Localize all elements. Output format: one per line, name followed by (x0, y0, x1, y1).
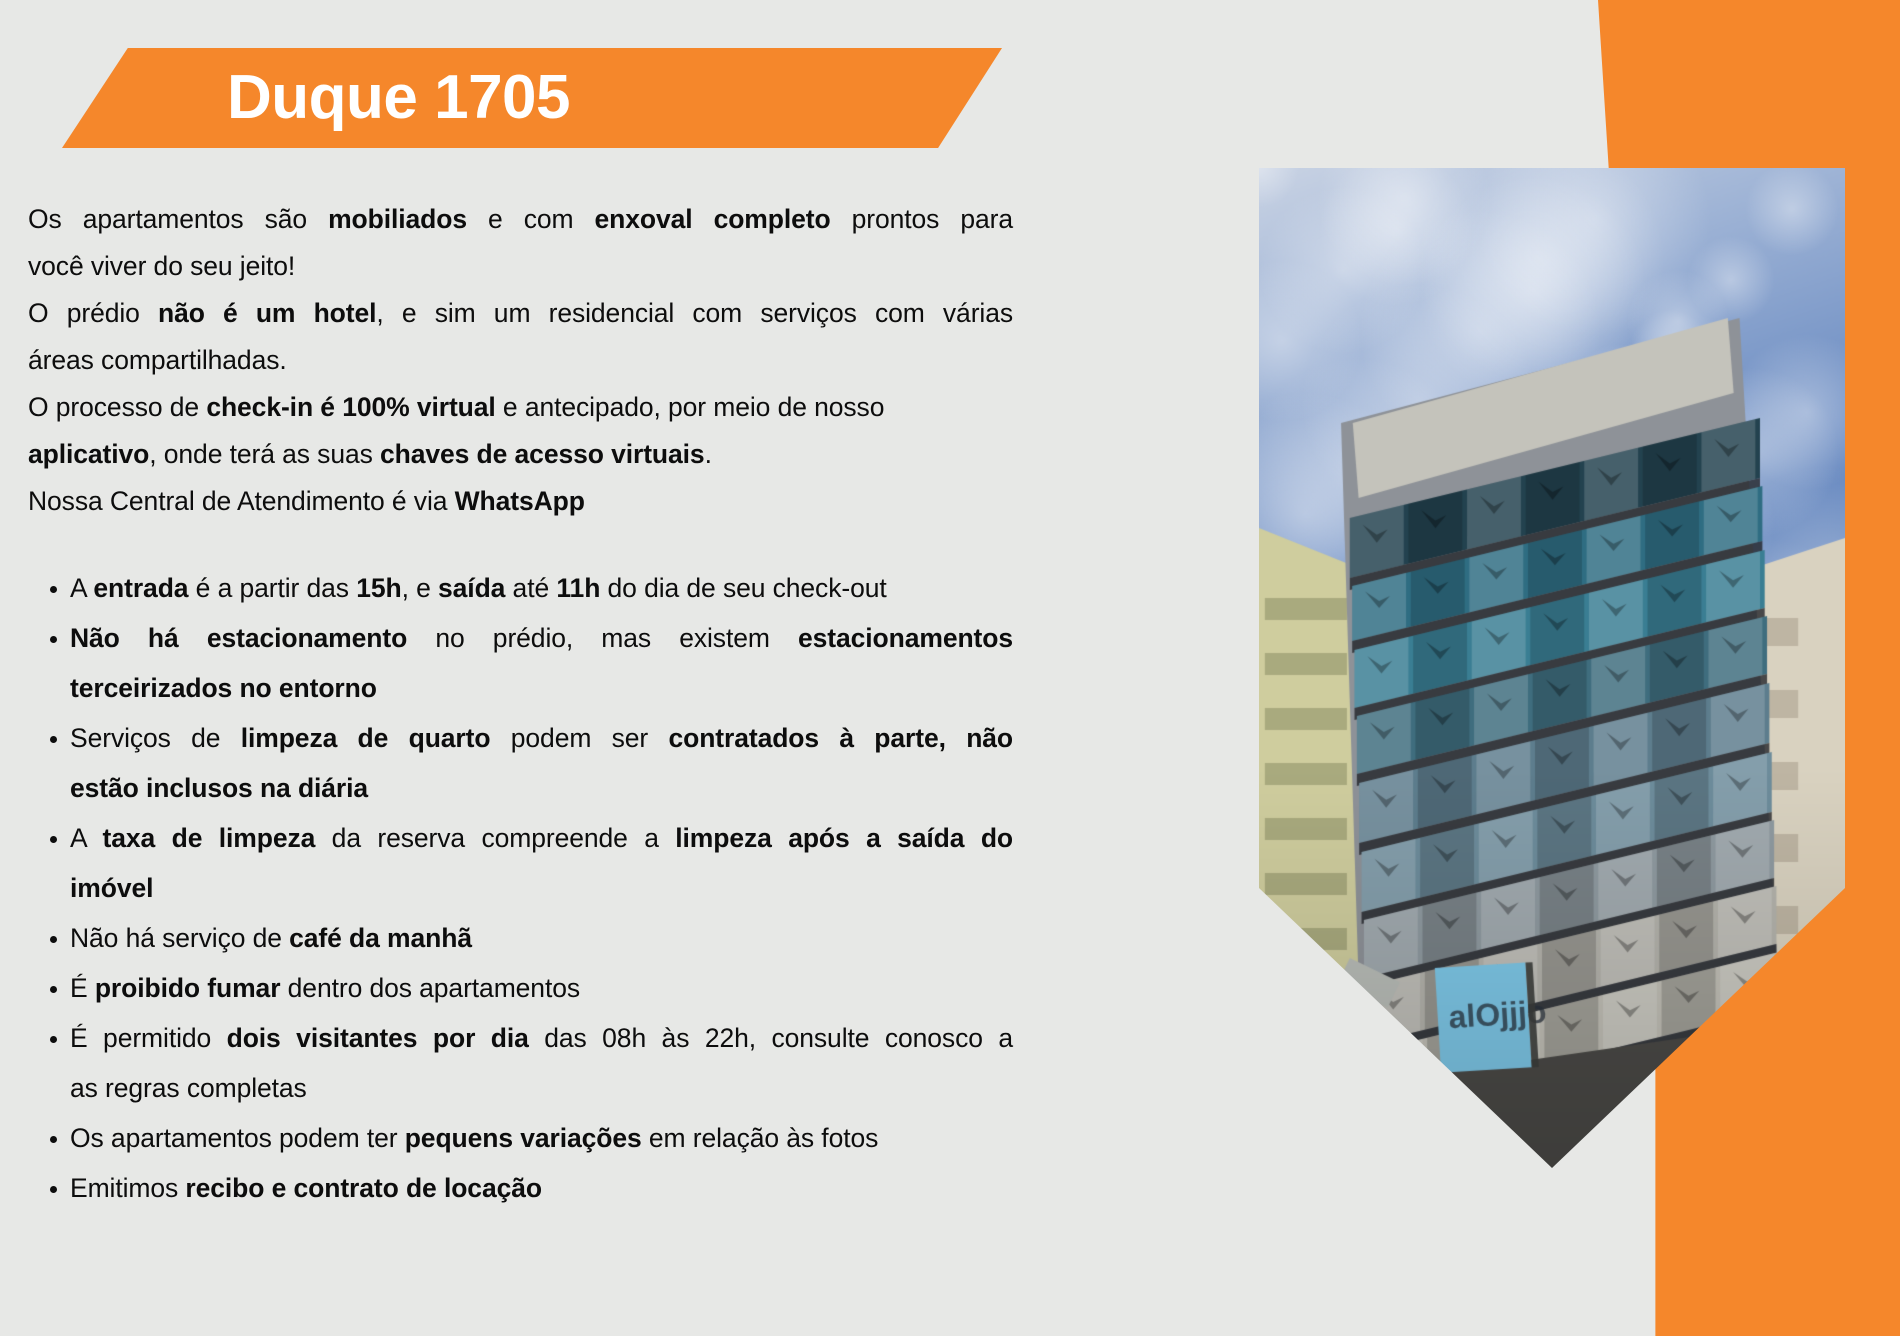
rule-3-d: contratados à parte, não (668, 723, 1013, 753)
rule-4-line-2: imóvel (70, 863, 1013, 913)
rule-4-b: taxa de limpeza (103, 823, 316, 853)
rule-1-a: A (70, 573, 93, 603)
intro-line-1-a: Os apartamentos são (28, 204, 328, 234)
rule-1-i: do dia de seu check-out (600, 573, 886, 603)
rules-list: A entrada é a partir das 15h, e saída at… (28, 563, 1013, 1213)
rule-7-c: das 08h às 22h, consulte conosco a (529, 1023, 1013, 1053)
intro-line-3-b: não é um hotel (158, 298, 376, 328)
list-item: Os apartamentos podem ter pequens variaç… (28, 1113, 1013, 1163)
intro-line-6-b: , onde terá as suas (149, 439, 380, 469)
rule-7-a: É permitido (70, 1023, 227, 1053)
rule-1-b: entrada (93, 573, 188, 603)
rule-6-c: dentro dos apartamentos (280, 973, 580, 1003)
intro-line-1-e: prontos para (831, 204, 1013, 234)
intro-line-1: Os apartamentos são mobiliados e com enx… (28, 196, 1013, 243)
intro-line-7: Nossa Central de Atendimento é via Whats… (28, 478, 1013, 525)
intro-paragraph: Os apartamentos são mobiliados e com enx… (28, 196, 1013, 525)
rule-3-line-1: Serviços de limpeza de quarto podem ser … (70, 713, 1013, 763)
list-item: Emitimos recibo e contrato de locação (28, 1163, 1013, 1213)
rule-7-d: as regras completas (70, 1073, 307, 1103)
rule-1-h: 11h (556, 573, 600, 603)
intro-line-5-b: check-in é 100% virtual (206, 392, 495, 422)
intro-line-1-d: enxoval completo (595, 204, 831, 234)
rule-7-line-1: É permitido dois visitantes por dia das … (70, 1013, 1013, 1063)
list-item: A entrada é a partir das 15h, e saída at… (28, 563, 1013, 613)
list-item: Serviços de limpeza de quarto podem ser … (28, 713, 1013, 813)
rule-2-a: Não há estacionamento (70, 623, 407, 653)
rule-8-b: pequens variações (405, 1123, 642, 1153)
intro-line-5: O processo de check-in é 100% virtual e … (28, 384, 1013, 431)
intro-line-3-c: , e sim um residencial com serviços com … (376, 298, 1013, 328)
rule-2-line-1: Não há estacionamento no prédio, mas exi… (70, 613, 1013, 663)
rule-4-line-1: A taxa de limpeza da reserva compreende … (70, 813, 1013, 863)
content-column: Os apartamentos são mobiliados e com enx… (28, 196, 1013, 1213)
list-item: Não há estacionamento no prédio, mas exi… (28, 613, 1013, 713)
rule-2-b: no prédio, mas existem (407, 623, 798, 653)
intro-line-6-d: . (705, 439, 712, 469)
intro-line-3: O prédio não é um hotel, e sim um reside… (28, 290, 1013, 337)
rule-1-e: , e (402, 573, 438, 603)
rule-5-b: café da manhã (289, 923, 472, 953)
rule-1-c: é a partir das (188, 573, 356, 603)
rule-3-line-2: estão inclusos na diária (70, 763, 1013, 813)
rule-7-b: dois visitantes por dia (227, 1023, 529, 1053)
rule-4-a: A (70, 823, 103, 853)
rule-9-a: Emitimos (70, 1173, 185, 1203)
rule-5-a: Não há serviço de (70, 923, 289, 953)
rule-1-g: até (505, 573, 556, 603)
intro-line-6-a: aplicativo (28, 439, 149, 469)
intro-line-7-b: WhatsApp (455, 486, 585, 516)
rule-2-d: terceirizados no entorno (70, 673, 377, 703)
intro-line-3-a: O prédio (28, 298, 158, 328)
rule-8-c: em relação às fotos (642, 1123, 879, 1153)
intro-line-1-c: e com (467, 204, 595, 234)
list-item: Não há serviço de café da manhã (28, 913, 1013, 963)
list-item: É permitido dois visitantes por dia das … (28, 1013, 1013, 1113)
intro-line-1-b: mobiliados (328, 204, 467, 234)
intro-line-5-a: O processo de (28, 392, 206, 422)
intro-line-5-c: e antecipado, por meio de nosso (496, 392, 885, 422)
rule-9-b: recibo e contrato de locação (185, 1173, 542, 1203)
rule-2-line-2: terceirizados no entorno (70, 663, 1013, 713)
rule-3-e: estão inclusos na diária (70, 773, 368, 803)
rule-1-d: 15h (356, 573, 401, 603)
list-item: É proibido fumar dentro dos apartamentos (28, 963, 1013, 1013)
rule-8-a: Os apartamentos podem ter (70, 1123, 405, 1153)
rule-2-c: estacionamentos (798, 623, 1013, 653)
rule-4-e: imóvel (70, 873, 153, 903)
rule-3-b: limpeza de quarto (241, 723, 491, 753)
rule-7-line-2: as regras completas (70, 1063, 1013, 1113)
list-item: A taxa de limpeza da reserva compreende … (28, 813, 1013, 913)
rule-3-c: podem ser (490, 723, 668, 753)
intro-line-7-a: Nossa Central de Atendimento é via (28, 486, 455, 516)
rule-6-a: É (70, 973, 95, 1003)
intro-line-4: áreas compartilhadas. (28, 337, 1013, 384)
rule-6-b: proibido fumar (95, 973, 281, 1003)
rule-3-a: Serviços de (70, 723, 241, 753)
rule-4-d: limpeza após a saída do (675, 823, 1013, 853)
title-banner: Duque 1705 (62, 48, 1002, 148)
intro-line-6: aplicativo, onde terá as suas chaves de … (28, 431, 1013, 478)
intro-line-6-c: chaves de acesso virtuais (380, 439, 705, 469)
page-title: Duque 1705 (227, 67, 570, 129)
rule-1-f: saída (438, 573, 505, 603)
rule-4-c: da reserva compreende a (315, 823, 675, 853)
intro-line-2: você viver do seu jeito! (28, 243, 1013, 290)
